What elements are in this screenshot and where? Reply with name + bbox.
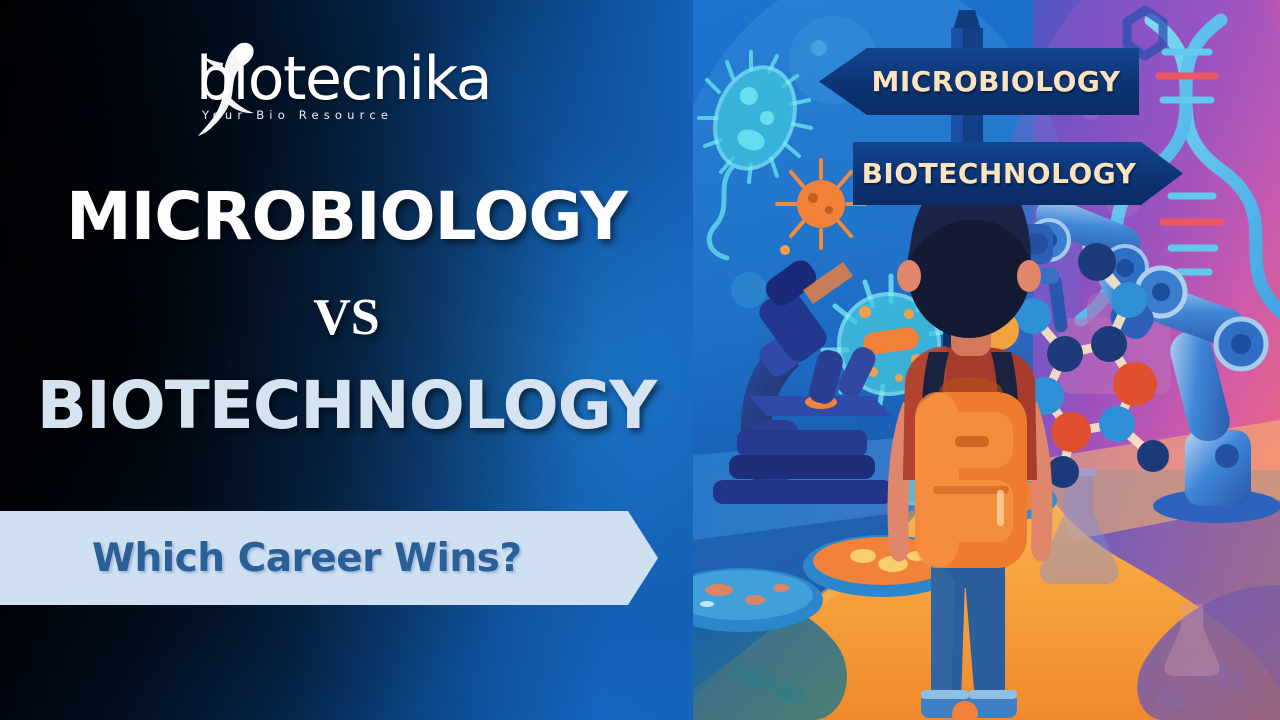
headline-divider-vs: VS: [0, 288, 693, 347]
headline-line-2: BIOTECHNOLOGY: [0, 367, 693, 444]
bacteria-cell: [699, 52, 811, 258]
signpost-biotechnology-label: BIOTECHNOLOGY: [853, 142, 1183, 205]
signpost-microbiology[interactable]: MICROBIOLOGY: [819, 48, 1139, 115]
illustration-panel: MICROBIOLOGY BIOTECHNOLOGY: [693, 0, 1280, 720]
ribbon-label: Which Career Wins?: [92, 536, 521, 581]
thumbnail-canvas: biotecnika Your Bio Resource MICROBIOLOG…: [0, 0, 1280, 720]
signpost-microbiology-label: MICROBIOLOGY: [819, 48, 1139, 115]
headline-line-1: MICROBIOLOGY: [0, 178, 693, 255]
question-ribbon: Which Career Wins?: [0, 511, 658, 605]
dancing-human-figure-icon: [196, 36, 262, 140]
signpost-biotechnology[interactable]: BIOTECHNOLOGY: [853, 142, 1183, 205]
virus-particle-small: [777, 160, 865, 248]
left-text-panel: biotecnika Your Bio Resource MICROBIOLOG…: [0, 0, 693, 720]
